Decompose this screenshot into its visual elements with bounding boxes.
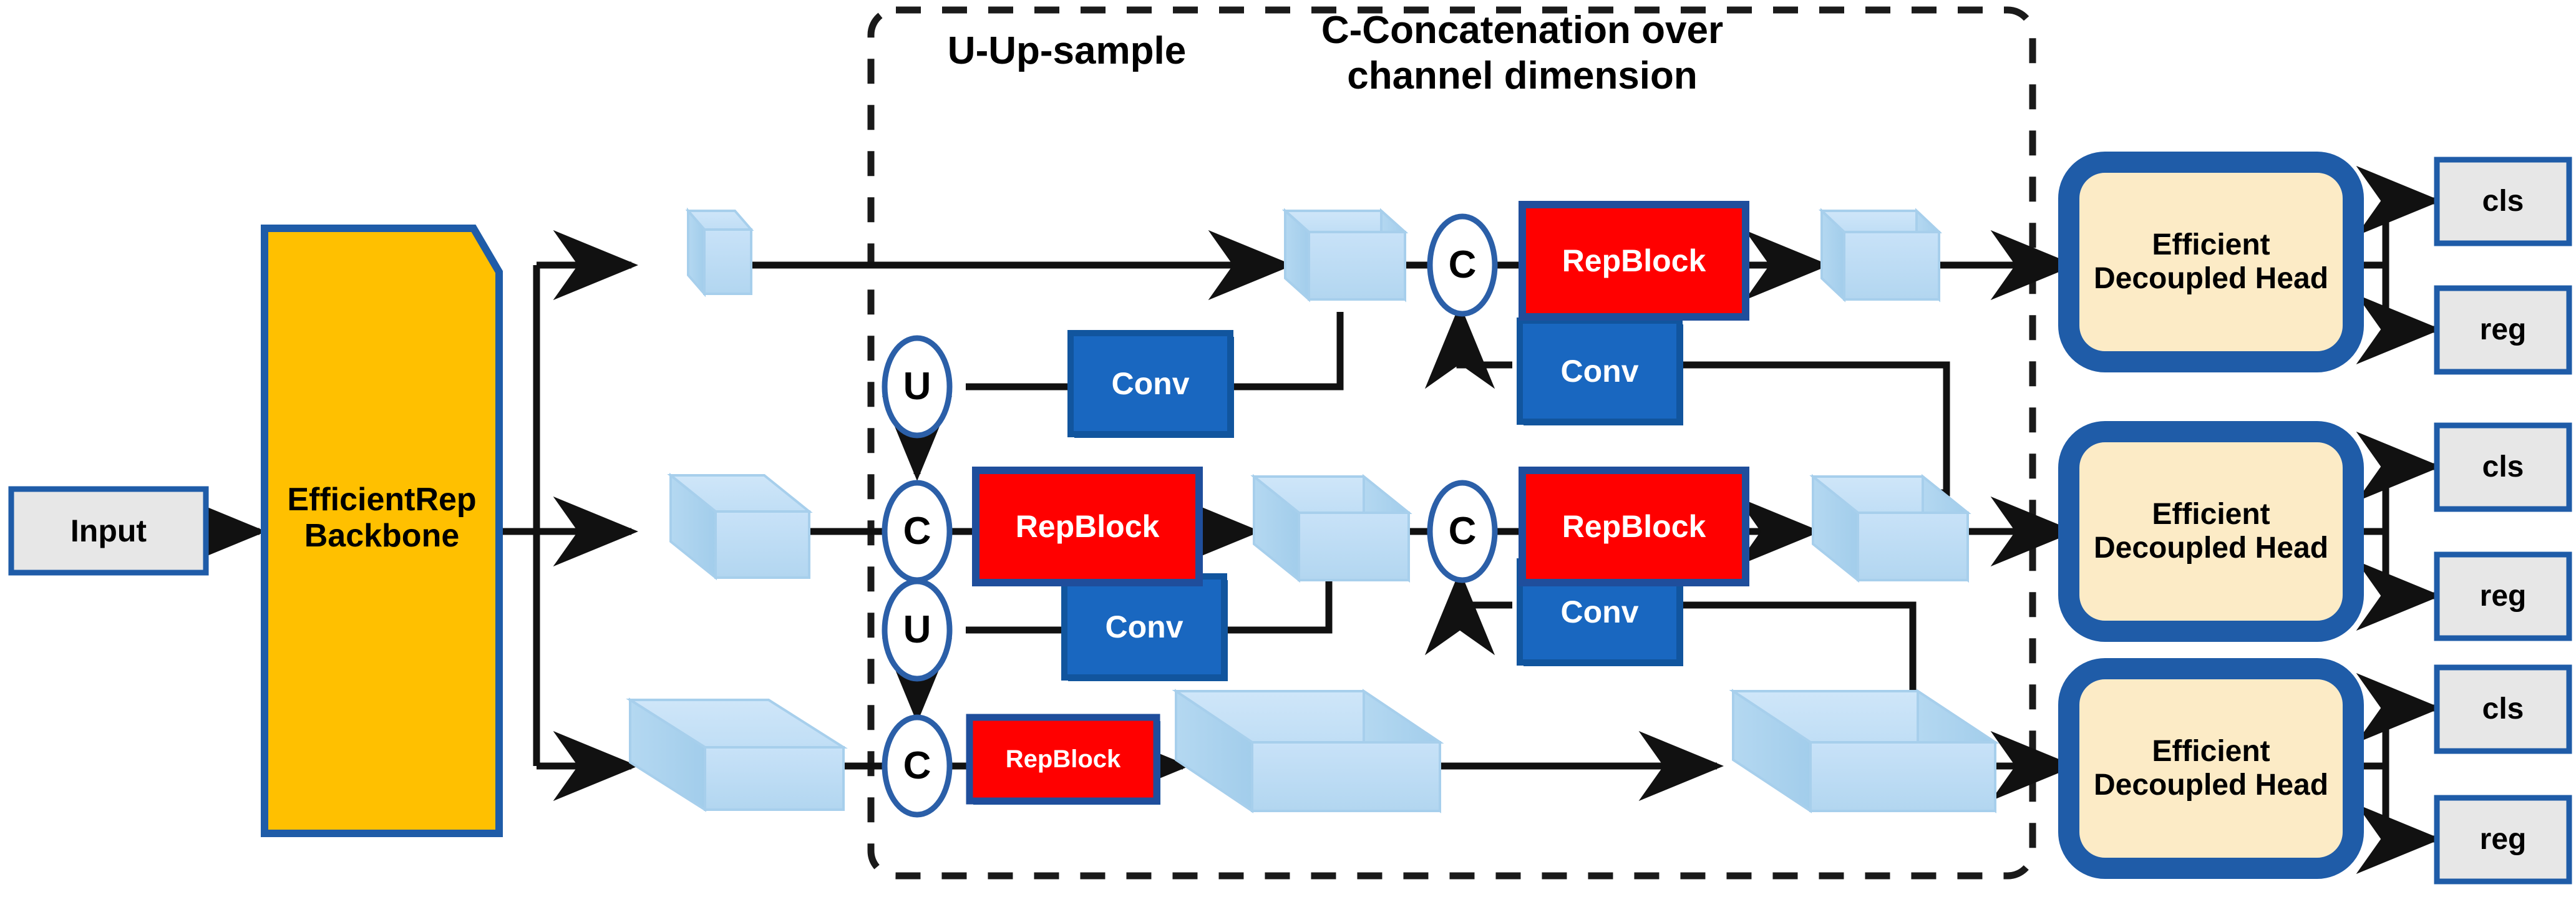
concat-circle — [885, 483, 950, 580]
decoupled-head-shapes — [2069, 162, 2357, 872]
legend-upsample: U-Up-sample — [930, 28, 1204, 74]
efficientrep-backbone-shape — [265, 228, 499, 833]
legend-concatenation: C-Concatenation over channel dimension — [1285, 7, 1759, 99]
feature-cube-pan-p5 — [1822, 211, 1939, 299]
repblock-shape — [1522, 205, 1749, 321]
concat-circle — [1430, 216, 1495, 314]
architecture-diagram: U-Up-sample C-Concatenation over channel… — [0, 0, 2576, 902]
feature-cube-fpn-p5 — [1285, 211, 1405, 299]
diagram-canvas — [0, 0, 2576, 902]
conv-box-shape — [1520, 321, 1683, 425]
feature-cube-backbone-p5 — [688, 211, 751, 294]
input-box — [11, 489, 206, 573]
repblock-shape — [970, 717, 1160, 805]
feature-cube-fpn-p3 — [1176, 691, 1440, 811]
feature-cube-pan-p3 — [1733, 691, 1995, 811]
upsample-circle — [885, 581, 950, 679]
edge-conv-down-p5-to-concat — [1460, 311, 1512, 365]
conv-box-shape — [1071, 333, 1234, 438]
repblock-shape — [1522, 470, 1749, 586]
feature-cube-backbone-p4 — [671, 475, 809, 578]
upsample-circle — [885, 338, 950, 435]
concat-circle — [1430, 483, 1495, 580]
concat-circle — [885, 717, 950, 815]
feature-cube-fpn-p4 — [1254, 477, 1409, 580]
feature-cube-backbone-p3 — [630, 700, 843, 810]
repblock-shape — [976, 470, 1203, 586]
output-boxes — [2437, 160, 2569, 881]
conv-box-shape — [1064, 576, 1228, 681]
